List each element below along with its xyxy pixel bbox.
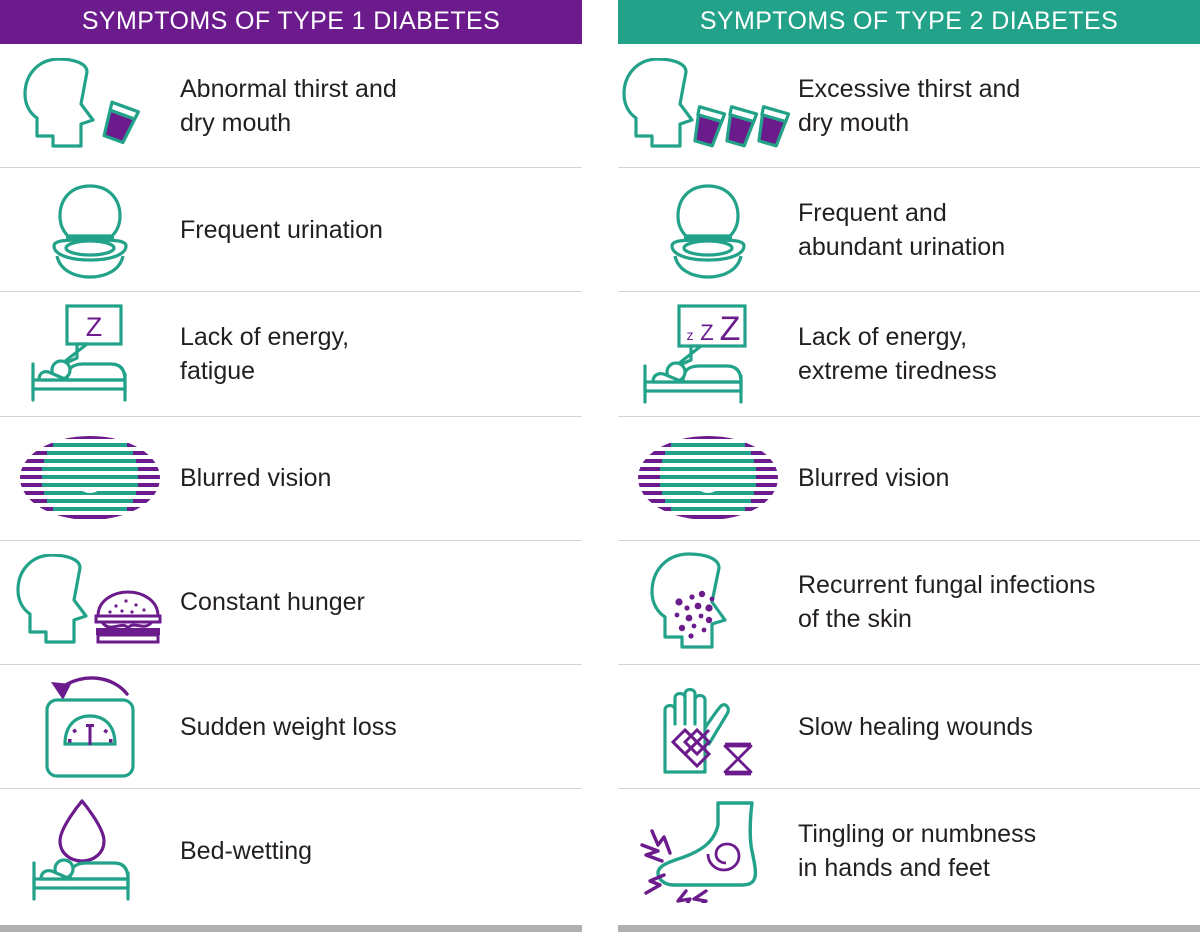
symptom-label: Frequent and abundant urination (798, 196, 1200, 264)
symptom-row: Constant hunger (0, 541, 582, 665)
svg-text:Z: Z (700, 320, 713, 345)
symptom-label-line: Lack of energy, (798, 320, 1186, 354)
symptom-list-type-2: Excessive thirst and dry mouth Freq (618, 44, 1200, 913)
svg-text:Z: Z (720, 310, 741, 348)
symptom-label-line: Frequent urination (180, 213, 568, 247)
blurred-eye-icon (618, 417, 798, 540)
symptom-list-type-1: Abnormal thirst and dry mouth Frequ (0, 44, 582, 913)
symptom-label-line: Frequent and (798, 196, 1186, 230)
symptom-row: Slow healing wounds (618, 665, 1200, 789)
column-type-2: SYMPTOMS OF TYPE 2 DIABETES (618, 0, 1200, 932)
symptom-label-line: of the skin (798, 602, 1186, 636)
bed-with-droplet-icon (0, 789, 180, 913)
symptom-row: Blurred vision (0, 417, 582, 541)
symptom-row: Blurred vision (618, 417, 1200, 541)
symptom-label: Lack of energy, extreme tiredness (798, 320, 1200, 388)
symptom-label-line: Blurred vision (798, 461, 1186, 495)
blurred-eye-icon (0, 417, 180, 540)
head-with-glass-icon (0, 44, 180, 167)
symptom-label: Lack of energy, fatigue (180, 320, 582, 388)
symptom-row: Bed-wetting (0, 789, 582, 913)
symptom-label-line: Excessive thirst and (798, 72, 1186, 106)
footer-bar-type-1 (0, 925, 582, 932)
symptom-row: Recurrent fungal infections of the skin (618, 541, 1200, 665)
footer-bar-type-2 (618, 925, 1200, 932)
foot-tingling-icon (618, 789, 798, 913)
symptom-label-line: fatigue (180, 354, 568, 388)
symptom-label: Slow healing wounds (798, 710, 1200, 744)
symptom-label: Blurred vision (798, 461, 1200, 495)
symptom-label-line: dry mouth (180, 106, 568, 140)
symptom-label-line: Slow healing wounds (798, 710, 1186, 744)
diabetes-symptoms-infographic: SYMPTOMS OF TYPE 1 DIABETES Abnormal (0, 0, 1200, 932)
column-header-type-2: SYMPTOMS OF TYPE 2 DIABETES (618, 0, 1200, 44)
symptom-row: z Z Z Lack of energy, extreme tiredness (618, 292, 1200, 416)
symptom-label-line: extreme tiredness (798, 354, 1186, 388)
symptom-label-line: in hands and feet (798, 851, 1186, 885)
column-type-1: SYMPTOMS OF TYPE 1 DIABETES Abnormal (0, 0, 582, 932)
svg-text:Z: Z (86, 312, 103, 342)
head-with-skin-spots-icon (618, 541, 798, 664)
symptom-label: Abnormal thirst and dry mouth (180, 72, 582, 140)
symptom-row: Frequent urination (0, 168, 582, 292)
head-with-burger-icon (0, 541, 180, 664)
symptom-label: Sudden weight loss (180, 710, 582, 744)
column-gutter (582, 0, 618, 932)
symptom-label-line: Tingling or numbness (798, 817, 1186, 851)
toilet-icon (618, 168, 798, 291)
bed-sleeping-z-icon: Z (0, 292, 180, 415)
symptom-label-line: Blurred vision (180, 461, 568, 495)
symptom-label: Bed-wetting (180, 834, 582, 868)
symptom-label-line: Bed-wetting (180, 834, 568, 868)
symptom-label: Excessive thirst and dry mouth (798, 72, 1200, 140)
symptom-label-line: Sudden weight loss (180, 710, 568, 744)
column-header-type-1: SYMPTOMS OF TYPE 1 DIABETES (0, 0, 582, 44)
symptom-label-line: abundant urination (798, 230, 1186, 264)
symptom-label: Blurred vision (180, 461, 582, 495)
symptom-label: Tingling or numbness in hands and feet (798, 817, 1200, 885)
symptom-label-line: Constant hunger (180, 585, 568, 619)
symptom-label-line: Abnormal thirst and (180, 72, 568, 106)
symptom-label: Constant hunger (180, 585, 582, 619)
symptom-label-line: Recurrent fungal infections (798, 568, 1186, 602)
symptom-row: Abnormal thirst and dry mouth (0, 44, 582, 168)
symptom-row: Z Lack of energy, fatigue (0, 292, 582, 416)
symptom-label: Recurrent fungal infections of the skin (798, 568, 1200, 636)
symptom-label-line: dry mouth (798, 106, 1186, 140)
symptom-row: Sudden weight loss (0, 665, 582, 789)
hand-wound-hourglass-icon (618, 665, 798, 788)
bed-sleeping-zzz-icon: z Z Z (618, 292, 798, 415)
symptom-row: Tingling or numbness in hands and feet (618, 789, 1200, 913)
symptom-label-line: Lack of energy, (180, 320, 568, 354)
symptom-row: Frequent and abundant urination (618, 168, 1200, 292)
symptom-row: Excessive thirst and dry mouth (618, 44, 1200, 168)
svg-text:z: z (687, 327, 694, 343)
head-with-three-glasses-icon (618, 44, 798, 167)
symptom-label: Frequent urination (180, 213, 582, 247)
toilet-icon (0, 168, 180, 291)
weight-scale-icon (0, 665, 180, 788)
